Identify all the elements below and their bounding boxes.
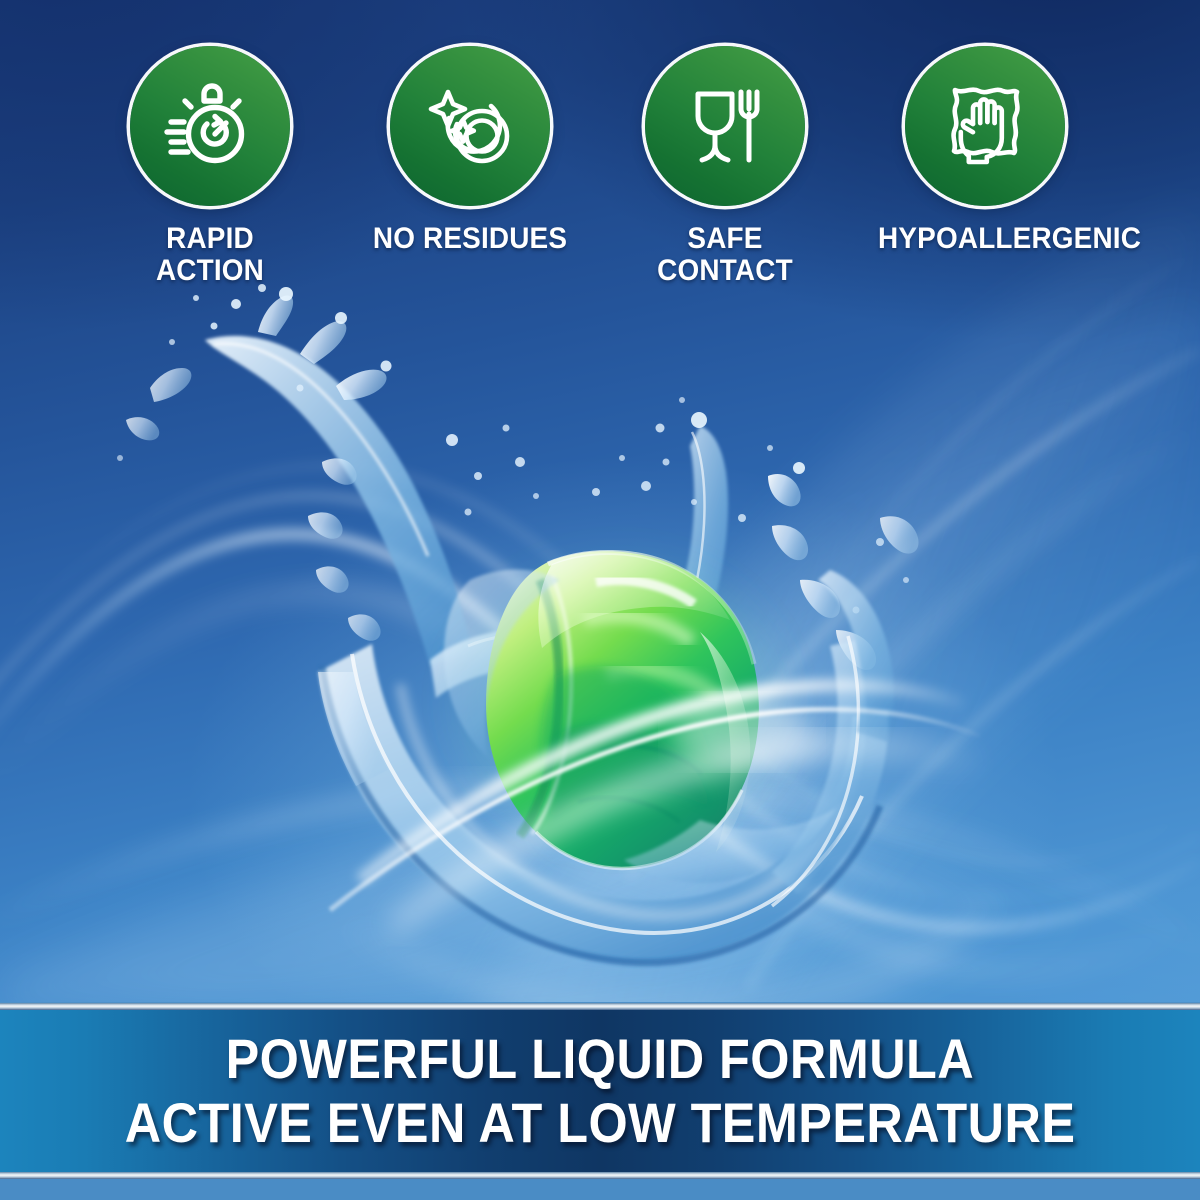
splash-upper-left <box>126 287 472 666</box>
badge-circle-no-residues <box>390 46 550 206</box>
badge-no-residues[interactable]: NO RESIDUES <box>355 46 585 255</box>
sparkling-plates-icon <box>418 74 522 178</box>
badge-circle-safe-contact <box>645 46 805 206</box>
bottom-banner-zone: POWERFUL LIQUID FORMULA ACTIVE EVEN AT L… <box>0 1002 1200 1200</box>
splash-droplets <box>117 284 909 614</box>
product-marketing-image: RAPID ACTION <box>0 0 1200 1200</box>
badge-hypoallergenic[interactable]: HYPOALLERGENIC <box>870 46 1100 255</box>
badge-rapid-action[interactable]: RAPID ACTION <box>95 46 325 287</box>
badge-label-no-residues: NO RESIDUES <box>363 223 577 255</box>
glass-fork-food-safe-icon <box>673 74 777 178</box>
badge-circle-hypoallergenic <box>905 46 1065 206</box>
tagline-line-1: POWERFUL LIQUID FORMULA <box>226 1030 975 1088</box>
badge-label-hypoallergenic: HYPOALLERGENIC <box>878 223 1092 255</box>
feature-badges-row: RAPID ACTION <box>0 0 1200 300</box>
tagline-banner: POWERFUL LIQUID FORMULA ACTIVE EVEN AT L… <box>0 1010 1200 1172</box>
hero-product-splash <box>0 280 1200 1010</box>
hand-on-cloth-icon <box>933 74 1037 178</box>
badge-label-safe-contact: SAFE CONTACT <box>618 223 832 287</box>
badge-circle-rapid-action <box>130 46 290 206</box>
stopwatch-speed-icon <box>158 74 262 178</box>
badge-safe-contact[interactable]: SAFE CONTACT <box>610 46 840 287</box>
tagline-line-2: ACTIVE EVEN AT LOW TEMPERATURE <box>125 1094 1076 1152</box>
badge-label-rapid-action: RAPID ACTION <box>103 223 317 287</box>
